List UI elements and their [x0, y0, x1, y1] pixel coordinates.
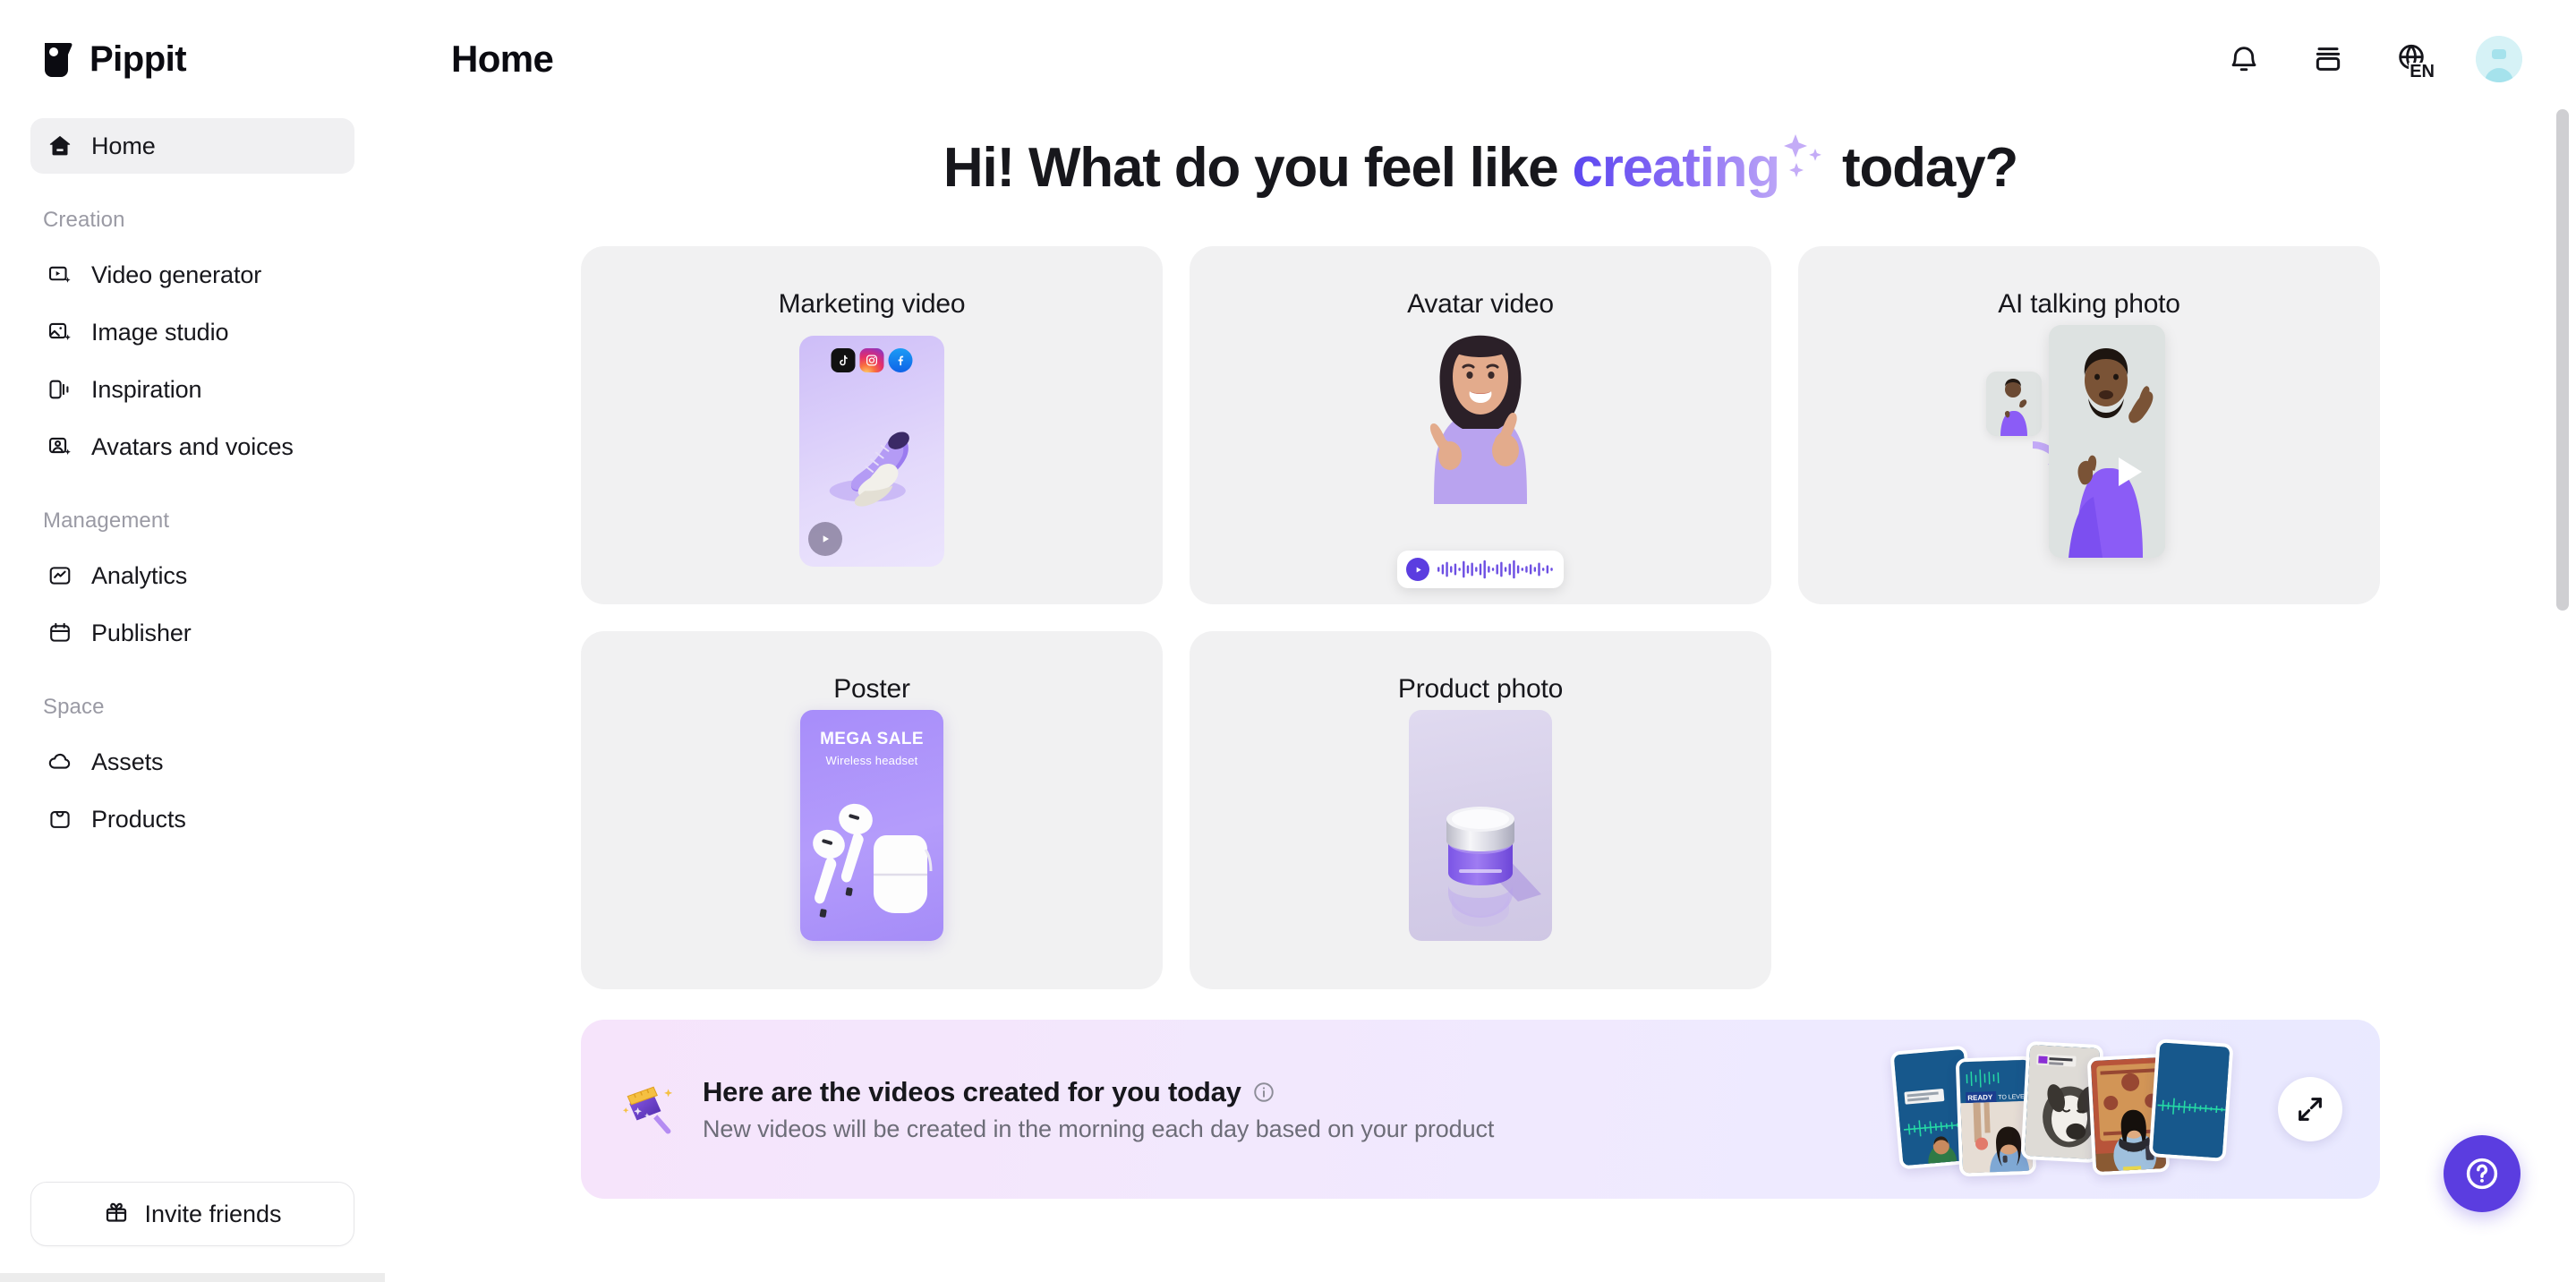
publisher-calendar-icon	[47, 620, 73, 646]
card-marketing-video[interactable]: Marketing video	[581, 246, 1163, 604]
sidebar-item-label: Home	[91, 132, 156, 160]
sidebar-item-assets[interactable]: Assets	[30, 734, 354, 790]
notification-bell-icon[interactable]	[2223, 38, 2265, 80]
source-photo-thumbnail	[1986, 372, 2042, 436]
play-icon[interactable]	[1406, 558, 1429, 581]
page-title: Home	[451, 38, 553, 81]
video-thumbnails[interactable]: READY TO LEVEL UP	[1895, 1038, 2246, 1181]
product-preview	[1409, 710, 1552, 941]
video-generator-icon	[47, 261, 73, 288]
sparkle-icon	[1779, 177, 1828, 186]
banner-text: Here are the videos created for you toda…	[703, 1076, 1494, 1143]
sidebar-section-space: Space	[30, 695, 354, 720]
poster-subline: Wireless headset	[800, 754, 943, 767]
assets-cloud-icon	[47, 748, 73, 775]
sidebar-item-products[interactable]: Products	[30, 791, 354, 847]
sidebar-item-analytics[interactable]: Analytics	[30, 548, 354, 603]
sidebar-item-video-generator[interactable]: Video generator	[30, 247, 354, 303]
svg-text:READY: READY	[1967, 1093, 1993, 1102]
banner-left: Here are the videos created for you toda…	[581, 1076, 1494, 1143]
sidebar-item-label: Inspiration	[91, 376, 201, 404]
sidebar-section-creation: Creation	[30, 208, 354, 233]
sidebar-item-label: Products	[91, 806, 186, 833]
card-title: Avatar video	[1407, 289, 1554, 320]
sidebar-nav: Home Creation Video generator	[0, 118, 385, 1182]
help-question-icon	[2462, 1154, 2502, 1193]
earbuds-illustration	[800, 778, 943, 930]
sidebar-item-publisher[interactable]: Publisher	[30, 605, 354, 661]
card-title: Poster	[833, 674, 910, 705]
sidebar-item-label: Video generator	[91, 261, 261, 289]
image-studio-icon	[47, 319, 73, 346]
poster-headline: MEGA SALE	[800, 730, 943, 749]
sidebar-item-label: Analytics	[91, 562, 187, 590]
credits-stack-icon[interactable]	[2307, 38, 2349, 80]
expand-button[interactable]	[2278, 1077, 2342, 1141]
brand[interactable]: Pippit	[0, 0, 385, 118]
language-code-label: EN	[2409, 63, 2435, 81]
card-product-photo[interactable]: Product photo	[1190, 631, 1771, 989]
tiktok-icon	[832, 348, 856, 372]
user-avatar[interactable]	[2476, 36, 2522, 82]
sneaker-illustration	[823, 416, 926, 524]
phone-mock	[799, 336, 944, 567]
card-title: AI talking photo	[1998, 289, 2180, 320]
banner-right: READY TO LEVEL UP	[1895, 1020, 2380, 1199]
content-area: Hi! What do you feel like creating today…	[385, 118, 2576, 1199]
sidebar-item-label: Avatars and voices	[91, 433, 294, 461]
cosmetic-jar-illustration	[1409, 710, 1552, 941]
waveform-icon	[1437, 559, 1555, 580]
card-ai-talking-photo[interactable]: AI talking photo	[1798, 246, 2380, 604]
sidebar-item-home[interactable]: Home	[30, 118, 354, 174]
clapperboard-sparkle-icon	[620, 1080, 679, 1139]
hero-suffix: today?	[1828, 137, 2017, 199]
banner-title: Here are the videos created for you toda…	[703, 1076, 1241, 1108]
invite-friends-button[interactable]: Invite friends	[30, 1182, 354, 1246]
sidebar-item-image-studio[interactable]: Image studio	[30, 304, 354, 360]
card-title: Marketing video	[779, 289, 966, 320]
card-avatar-video[interactable]: Avatar video	[1190, 246, 1771, 604]
product-photo-art	[1190, 705, 1771, 989]
banner-title-row: Here are the videos created for you toda…	[703, 1076, 1494, 1108]
sidebar-footer: Invite friends	[0, 1182, 385, 1282]
sidebar-item-inspiration[interactable]: Inspiration	[30, 362, 354, 417]
instagram-icon	[860, 348, 884, 372]
gift-icon	[103, 1199, 130, 1230]
hero-heading: Hi! What do you feel like creating today…	[385, 118, 2576, 200]
vertical-scrollbar[interactable]	[2556, 109, 2569, 611]
daily-videos-banner[interactable]: Here are the videos created for you toda…	[581, 1020, 2380, 1199]
avatar-person-illustration	[1391, 325, 1570, 540]
ai-talking-photo-art	[1798, 320, 2380, 604]
marketing-video-art	[581, 320, 1163, 604]
card-row-spacer	[1798, 631, 2380, 989]
home-icon	[47, 132, 73, 159]
products-bag-icon	[47, 806, 73, 833]
card-title: Product photo	[1398, 674, 1563, 705]
topbar-actions: EN	[2223, 36, 2522, 82]
card-row-1: Marketing video	[581, 246, 2380, 604]
banner-subtitle: New videos will be created in the mornin…	[703, 1115, 1494, 1143]
sidebar-section-management: Management	[30, 509, 354, 534]
social-icons-row	[832, 348, 913, 372]
audio-player-bar	[1397, 551, 1564, 588]
poster-preview: MEGA SALE Wireless headset	[800, 710, 943, 941]
horizontal-scrollbar[interactable]	[0, 1273, 385, 1282]
language-globe-icon[interactable]: EN	[2392, 38, 2433, 80]
topbar: Home	[385, 0, 2576, 118]
sidebar-item-avatars-and-voices[interactable]: Avatars and voices	[30, 419, 354, 474]
card-row-2: Poster MEGA SALE Wireless headset	[581, 631, 2380, 989]
creation-cards: Marketing video	[581, 200, 2380, 989]
invite-friends-label: Invite friends	[144, 1201, 281, 1228]
hero-prefix: Hi! What do you feel like	[943, 137, 1573, 199]
app-root: Pippit Home Creation	[0, 0, 2576, 1282]
info-circle-icon[interactable]	[1252, 1081, 1275, 1104]
main-content: Home	[385, 0, 2576, 1282]
thumbnail-5	[2149, 1038, 2234, 1162]
facebook-icon	[889, 348, 913, 372]
pippit-bird-logo-icon	[41, 39, 77, 79]
sidebar-item-label: Image studio	[91, 319, 228, 346]
inspiration-icon	[47, 376, 73, 403]
result-photo	[2049, 325, 2165, 558]
sidebar-item-label: Publisher	[91, 620, 192, 647]
help-button[interactable]	[2444, 1135, 2521, 1212]
analytics-icon	[47, 562, 73, 589]
hero-highlight: creating	[1572, 137, 1779, 199]
sidebar-item-label: Assets	[91, 748, 163, 776]
avatars-voices-icon	[47, 433, 73, 460]
play-icon	[808, 522, 842, 556]
brand-name: Pippit	[90, 39, 186, 80]
card-poster[interactable]: Poster MEGA SALE Wireless headset	[581, 631, 1163, 989]
sidebar: Pippit Home Creation	[0, 0, 385, 1282]
avatar-video-art	[1190, 320, 1771, 604]
poster-art: MEGA SALE Wireless headset	[581, 705, 1163, 989]
